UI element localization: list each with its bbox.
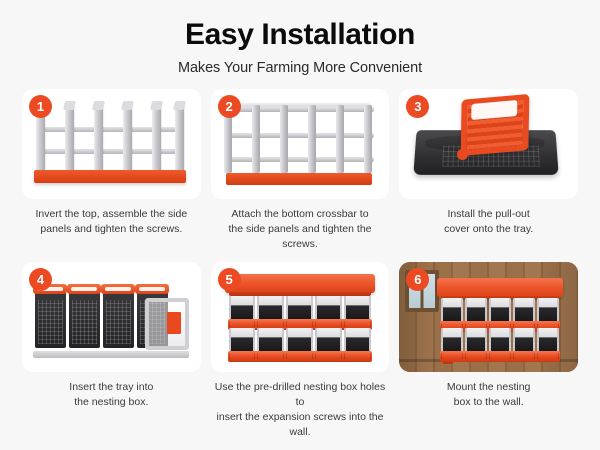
step-image-5: 5 bbox=[211, 262, 390, 372]
step-caption-5: Use the pre-drilled nesting box holes to… bbox=[211, 380, 390, 441]
step-card-5: 5 Use the pre-drilled nesting box holes … bbox=[211, 262, 390, 441]
step-caption-1-line1: Invert the top, assemble the side bbox=[24, 207, 199, 222]
step-image-6: 6 bbox=[399, 262, 578, 372]
step-card-4: 4 Insert the tray into the nesting box. bbox=[22, 262, 201, 441]
step-caption-5-line2: insert the expansion screws into the wal… bbox=[213, 410, 388, 440]
step-caption-6-line1: Mount the nesting bbox=[401, 380, 576, 395]
step-caption-6-line2: box to the wall. bbox=[401, 395, 576, 410]
step-badge-6: 6 bbox=[406, 268, 429, 291]
step-caption-1-line2: panels and tighten the screws. bbox=[24, 222, 199, 237]
step-badge-5: 5 bbox=[218, 268, 241, 291]
step-caption-4-line2: the nesting box. bbox=[24, 395, 199, 410]
step-badge-2: 2 bbox=[218, 95, 241, 118]
step-caption-4: Insert the tray into the nesting box. bbox=[22, 380, 201, 410]
step-caption-5-line1: Use the pre-drilled nesting box holes to bbox=[213, 380, 388, 410]
step-caption-2-line2: the side panels and tighten the screws. bbox=[213, 222, 388, 252]
installation-guide-page: Easy Installation Makes Your Farming Mor… bbox=[0, 0, 600, 450]
step-caption-3: Install the pull-out cover onto the tray… bbox=[399, 207, 578, 237]
step-card-1: 1 Invert the top, assemble the side pane… bbox=[22, 89, 201, 253]
page-title: Easy Installation bbox=[0, 18, 600, 51]
step-image-3: 3 bbox=[399, 89, 578, 199]
step-card-6: 6 Mount the nesting box to the wall. bbox=[399, 262, 578, 441]
step-caption-1: Invert the top, assemble the side panels… bbox=[22, 207, 201, 237]
step-caption-3-line2: cover onto the tray. bbox=[401, 222, 576, 237]
step-caption-6: Mount the nesting box to the wall. bbox=[399, 380, 578, 410]
step-card-3: 3 Install the pull-out cover onto the tr… bbox=[399, 89, 578, 253]
steps-grid: 1 Invert the top, assemble the side pane… bbox=[22, 89, 578, 441]
step-badge-4: 4 bbox=[29, 268, 52, 291]
step-image-4: 4 bbox=[22, 262, 201, 372]
step-image-1: 1 bbox=[22, 89, 201, 199]
step-caption-2-line1: Attach the bottom crossbar to bbox=[213, 207, 388, 222]
step-card-2: 2 Attach the bottom crossbar to the side… bbox=[211, 89, 390, 253]
step-image-2: 2 bbox=[211, 89, 390, 199]
page-header: Easy Installation Makes Your Farming Mor… bbox=[0, 0, 600, 76]
step-caption-4-line1: Insert the tray into bbox=[24, 380, 199, 395]
step-caption-2: Attach the bottom crossbar to the side p… bbox=[211, 207, 390, 253]
page-subtitle: Makes Your Farming More Convenient bbox=[0, 60, 600, 76]
step-badge-1: 1 bbox=[29, 95, 52, 118]
step-caption-3-line1: Install the pull-out bbox=[401, 207, 576, 222]
